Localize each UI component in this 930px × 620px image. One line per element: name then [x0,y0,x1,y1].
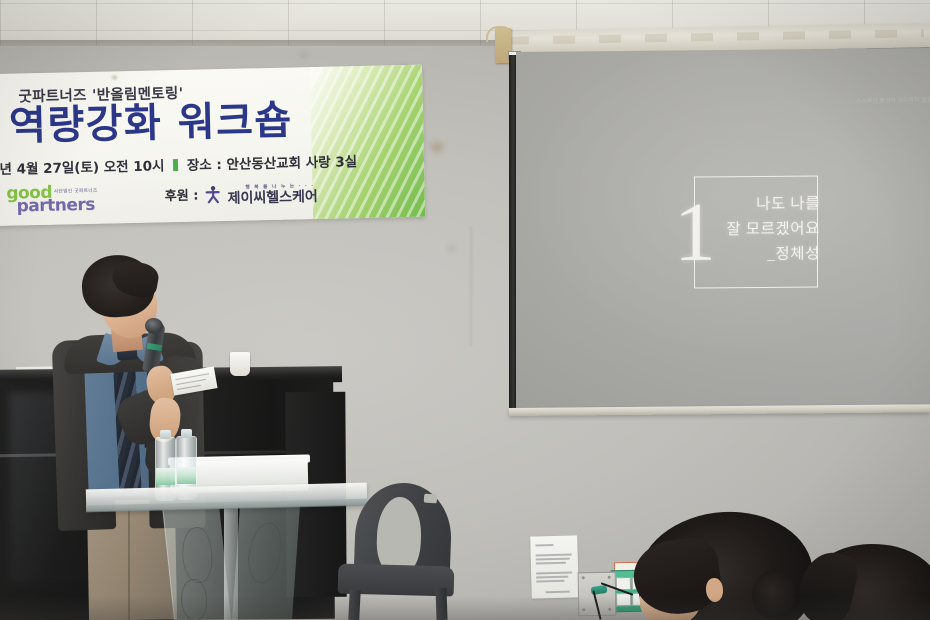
slide-line-2: 잘 모르겠어요 [690,216,820,242]
banner-date: 9년 4월 27일(토) 오전 10시 [0,158,165,178]
event-banner: 굿파트너즈 '반올림멘토링' 역량강화 워크숍 9년 4월 27일(토) 오전 … [0,65,425,226]
screen-side-strip [509,55,516,412]
paper-cup [230,352,250,376]
banner-host-prefix: : [0,193,3,208]
notice-line [536,562,566,564]
wall-stain [300,52,308,58]
banner-details: 9년 4월 27일(토) 오전 10시 장소 : 안산동산교회 사랑 3실 [0,150,357,178]
credits-gap [102,200,160,201]
goodpartners-tagline: 사단법인 굿파트너즈 [54,187,98,194]
slide-line-3: _정체성 [690,241,820,267]
notice-line [536,558,570,560]
bottle-label [177,467,196,484]
banner-title: 역량강화 워크숍 [9,98,293,150]
bottle-cap [181,429,192,438]
notice-line [536,580,564,582]
goodpartners-partners: partners [16,195,98,217]
foreground-shadow [0,596,930,620]
wall-stain [430,142,444,152]
banner-green-mark [173,159,178,171]
wall-stain [448,246,455,251]
wall-notice-paper [530,535,579,598]
paper-line [177,385,201,390]
sponsor-name: 제이씨헬스케어 [227,188,317,206]
bottle-label [156,468,175,485]
slide-line-1: 나도 나를 [690,191,820,217]
podium-etching [247,523,283,583]
notice-line [546,591,570,593]
jc-figure-icon [205,185,221,203]
wall-seam [470,226,472,346]
sponsor-label: 후원 : [165,189,199,205]
notice-line [536,554,572,557]
notice-line [535,544,553,546]
banner-spot [112,75,117,79]
plate-screw [582,576,585,579]
slide-side-note: 스스로가 형성이 되기까지 필요한 대 [856,96,930,105]
paper-line [176,379,206,385]
slide-text-block: 나도 나를 잘 모르겠어요 _정체성 [690,191,820,267]
photo-scene: 1 나도 나를 잘 모르겠어요 _정체성 스스로가 형성이 되기까지 필요한 대… [0,0,930,620]
notice-line [536,576,568,578]
notice-line [536,572,572,575]
plate-screw [608,576,611,579]
sponsor-block: 행 복 을 나 누 는 · · · 제이씨헬스케어 [227,181,318,207]
bottle-cap [160,430,171,439]
podium-etching [179,527,215,583]
goodpartners-logo: good사단법인 굿파트너즈 partners [6,182,98,217]
banner-credits: : good사단법인 굿파트너즈 partners 후원 : 행 복 을 나 누… [0,176,353,218]
chair-back-tab [424,494,438,504]
